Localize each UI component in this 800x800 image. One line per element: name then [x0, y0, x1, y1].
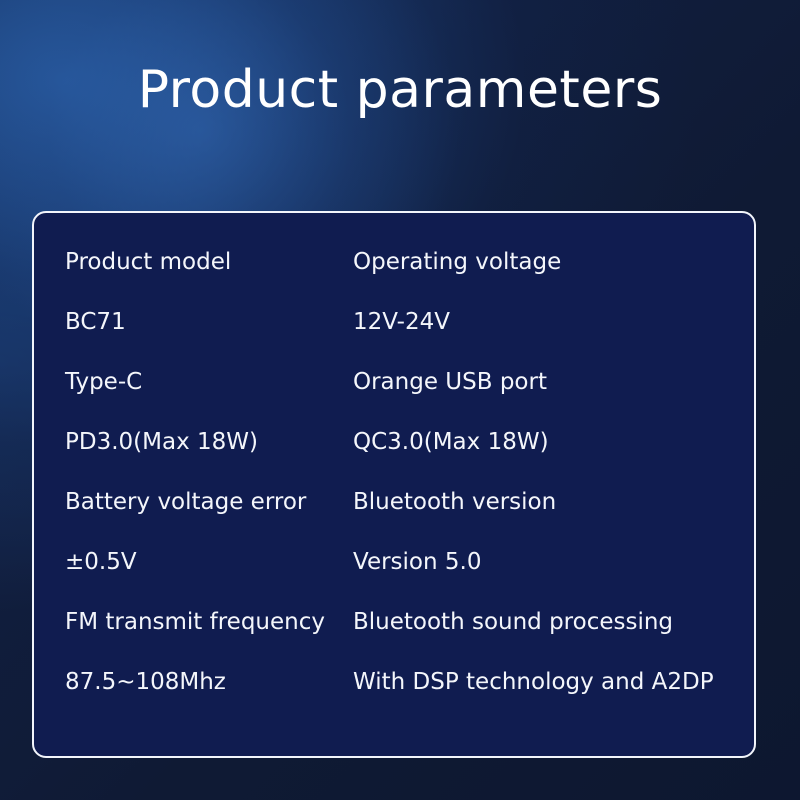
spec-right-value: Orange USB port: [353, 370, 547, 395]
spec-left-value: 87.5~108Mhz: [65, 670, 226, 695]
spec-right-value: 12V-24V: [353, 310, 450, 335]
spec-left-value: BC71: [65, 310, 126, 335]
spec-right-value: QC3.0(Max 18W): [353, 430, 549, 455]
table-row: 87.5~108Mhz With DSP technology and A2DP: [34, 653, 754, 713]
page-title: Product parameters: [0, 64, 800, 116]
table-row: Product model Operating voltage: [34, 233, 754, 293]
spec-right-value: Operating voltage: [353, 250, 561, 275]
specifications-card: Product model Operating voltage BC71 12V…: [32, 211, 756, 758]
table-row: FM transmit frequency Bluetooth sound pr…: [34, 593, 754, 653]
spec-left-value: Type-C: [65, 370, 142, 395]
spec-right-value: With DSP technology and A2DP: [353, 670, 714, 695]
table-row: ±0.5V Version 5.0: [34, 533, 754, 593]
spec-left-value: Battery voltage error: [65, 490, 306, 515]
spec-right-value: Bluetooth sound processing: [353, 610, 673, 635]
spec-left-value: FM transmit frequency: [65, 610, 325, 635]
spec-left-value: Product model: [65, 250, 231, 275]
spec-left-value: PD3.0(Max 18W): [65, 430, 258, 455]
table-row: PD3.0(Max 18W) QC3.0(Max 18W): [34, 413, 754, 473]
spec-left-value: ±0.5V: [65, 550, 137, 575]
specifications-table: Product model Operating voltage BC71 12V…: [34, 213, 754, 756]
table-row: Type-C Orange USB port: [34, 353, 754, 413]
product-parameters-page: Product parameters Product model Operati…: [0, 0, 800, 800]
spec-right-value: Bluetooth version: [353, 490, 556, 515]
spec-right-value: Version 5.0: [353, 550, 481, 575]
table-row: BC71 12V-24V: [34, 293, 754, 353]
table-row: Battery voltage error Bluetooth version: [34, 473, 754, 533]
